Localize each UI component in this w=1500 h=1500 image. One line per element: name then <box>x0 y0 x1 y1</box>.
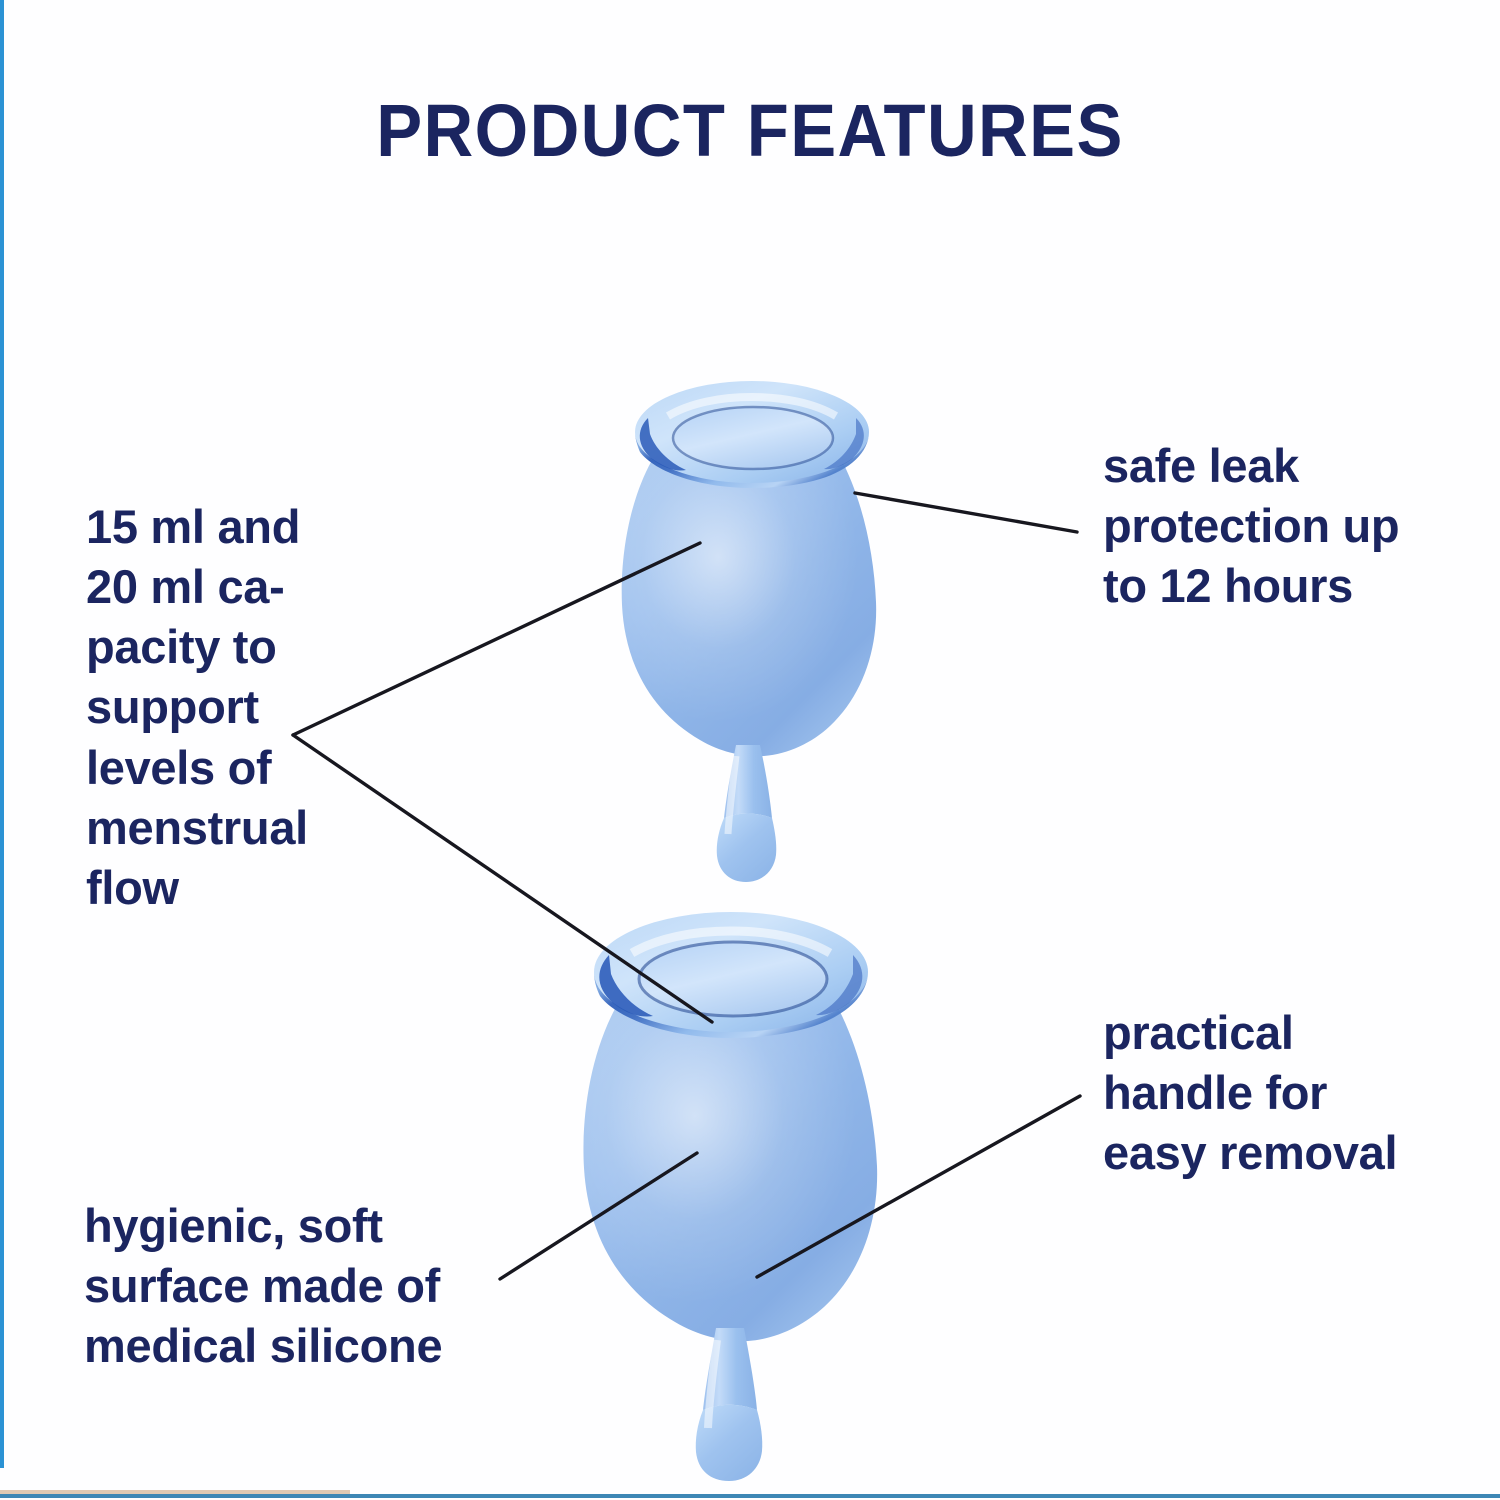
leader-lines <box>293 493 1080 1279</box>
cup-large-rim-shade <box>594 972 868 1038</box>
cup-small-rim-inner-edge <box>673 407 833 469</box>
cup-large-body <box>583 1000 877 1341</box>
cup-large-rim-inner-edge <box>639 942 827 1016</box>
cup-small-rim-sheen <box>668 397 836 416</box>
cup-small-body <box>622 455 876 756</box>
cup-large <box>583 912 877 1481</box>
callout-safe-leak: safe leak protection up to 12 hours <box>1103 436 1463 616</box>
cup-small-stem-highlight <box>728 756 736 834</box>
cup-small-rim-outer <box>635 381 869 483</box>
cup-large-rim-accent-right <box>816 955 862 1015</box>
leader-hygienic-surface <box>500 1153 697 1279</box>
cup-small-rim-accent-left <box>640 418 686 471</box>
cup-large-rim-accent-left <box>599 955 653 1016</box>
callout-capacity: 15 ml and 20 ml ca- pacity to support le… <box>86 497 386 918</box>
leader-practical-handle <box>757 1096 1080 1277</box>
cup-small-stem-upper <box>724 745 772 818</box>
cup-small <box>622 381 876 882</box>
cup-large-stem-highlight <box>708 1340 717 1428</box>
callout-practical-handle: practical handle for easy removal <box>1103 1003 1473 1183</box>
cup-large-rim-outer <box>594 912 868 1032</box>
frame-edge-bottom-accent <box>0 1490 350 1494</box>
cup-small-body-highlight <box>622 455 876 756</box>
cup-large-rim-inner <box>639 942 827 1016</box>
cup-large-body-highlight <box>583 1000 877 1341</box>
frame-edge-left <box>0 0 4 1468</box>
cup-large-stem-upper <box>703 1328 757 1410</box>
callout-hygienic-surface: hygienic, soft surface made of medical s… <box>84 1196 524 1376</box>
cup-large-stem-tip <box>696 1405 763 1481</box>
cup-small-rim-inner <box>673 407 833 469</box>
cup-small-stem-tip <box>717 814 777 883</box>
infographic-canvas: PRODUCT FEATURES <box>0 0 1500 1500</box>
frame-edge-bottom <box>0 1494 1500 1498</box>
cup-large-rim-sheen <box>632 931 830 953</box>
cup-small-rim-accent-right <box>824 418 864 469</box>
leader-safe-leak <box>855 493 1077 532</box>
page-title: PRODUCT FEATURES <box>53 88 1448 173</box>
cup-small-rim-shade <box>635 432 869 488</box>
